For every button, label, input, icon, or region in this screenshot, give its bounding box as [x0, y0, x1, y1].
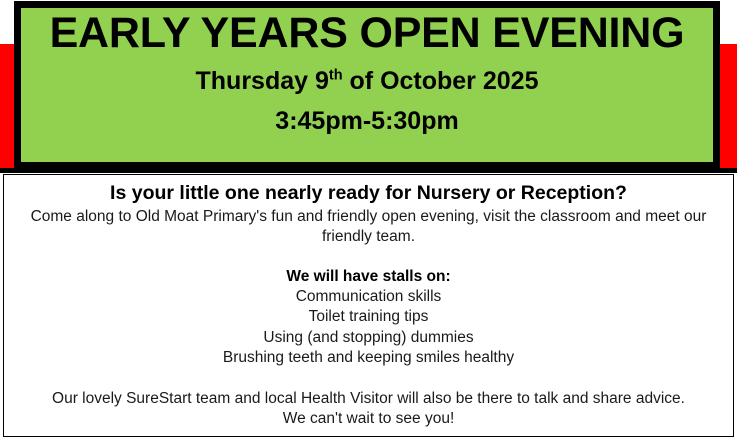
- section-divider-rule: [0, 168, 737, 173]
- event-date-ordinal: th: [329, 68, 343, 84]
- event-date-prefix: Thursday 9: [196, 67, 329, 95]
- list-item: Toilet training tips: [13, 307, 724, 327]
- closing-line-signoff: We can't wait to see you!: [13, 409, 724, 429]
- headline-banner: EARLY YEARS OPEN EVENING Thursday 9th of…: [14, 1, 720, 169]
- closing-line-partners: Our lovely SureStart team and local Heal…: [13, 389, 724, 409]
- details-intro-text: Come along to Old Moat Primary's fun and…: [13, 207, 724, 247]
- details-heading: Is your little one nearly ready for Nurs…: [13, 182, 724, 205]
- event-time: 3:45pm-5:30pm: [275, 108, 458, 134]
- details-panel: Is your little one nearly ready for Nurs…: [3, 174, 734, 437]
- event-date: Thursday 9th of October 2025: [196, 68, 539, 94]
- event-date-suffix: of October 2025: [343, 67, 539, 95]
- paragraph-spacer-top: [13, 247, 724, 267]
- event-title: EARLY YEARS OPEN EVENING: [48, 12, 687, 56]
- stalls-list: Communication skills Toilet training tip…: [13, 287, 724, 369]
- list-item: Brushing teeth and keeping smiles health…: [13, 348, 724, 368]
- stalls-label: We will have stalls on:: [13, 267, 724, 287]
- list-item: Communication skills: [13, 287, 724, 307]
- paragraph-spacer-bottom: [13, 369, 724, 389]
- list-item: Using (and stopping) dummies: [13, 328, 724, 348]
- poster-root: EARLY YEARS OPEN EVENING Thursday 9th of…: [0, 0, 737, 440]
